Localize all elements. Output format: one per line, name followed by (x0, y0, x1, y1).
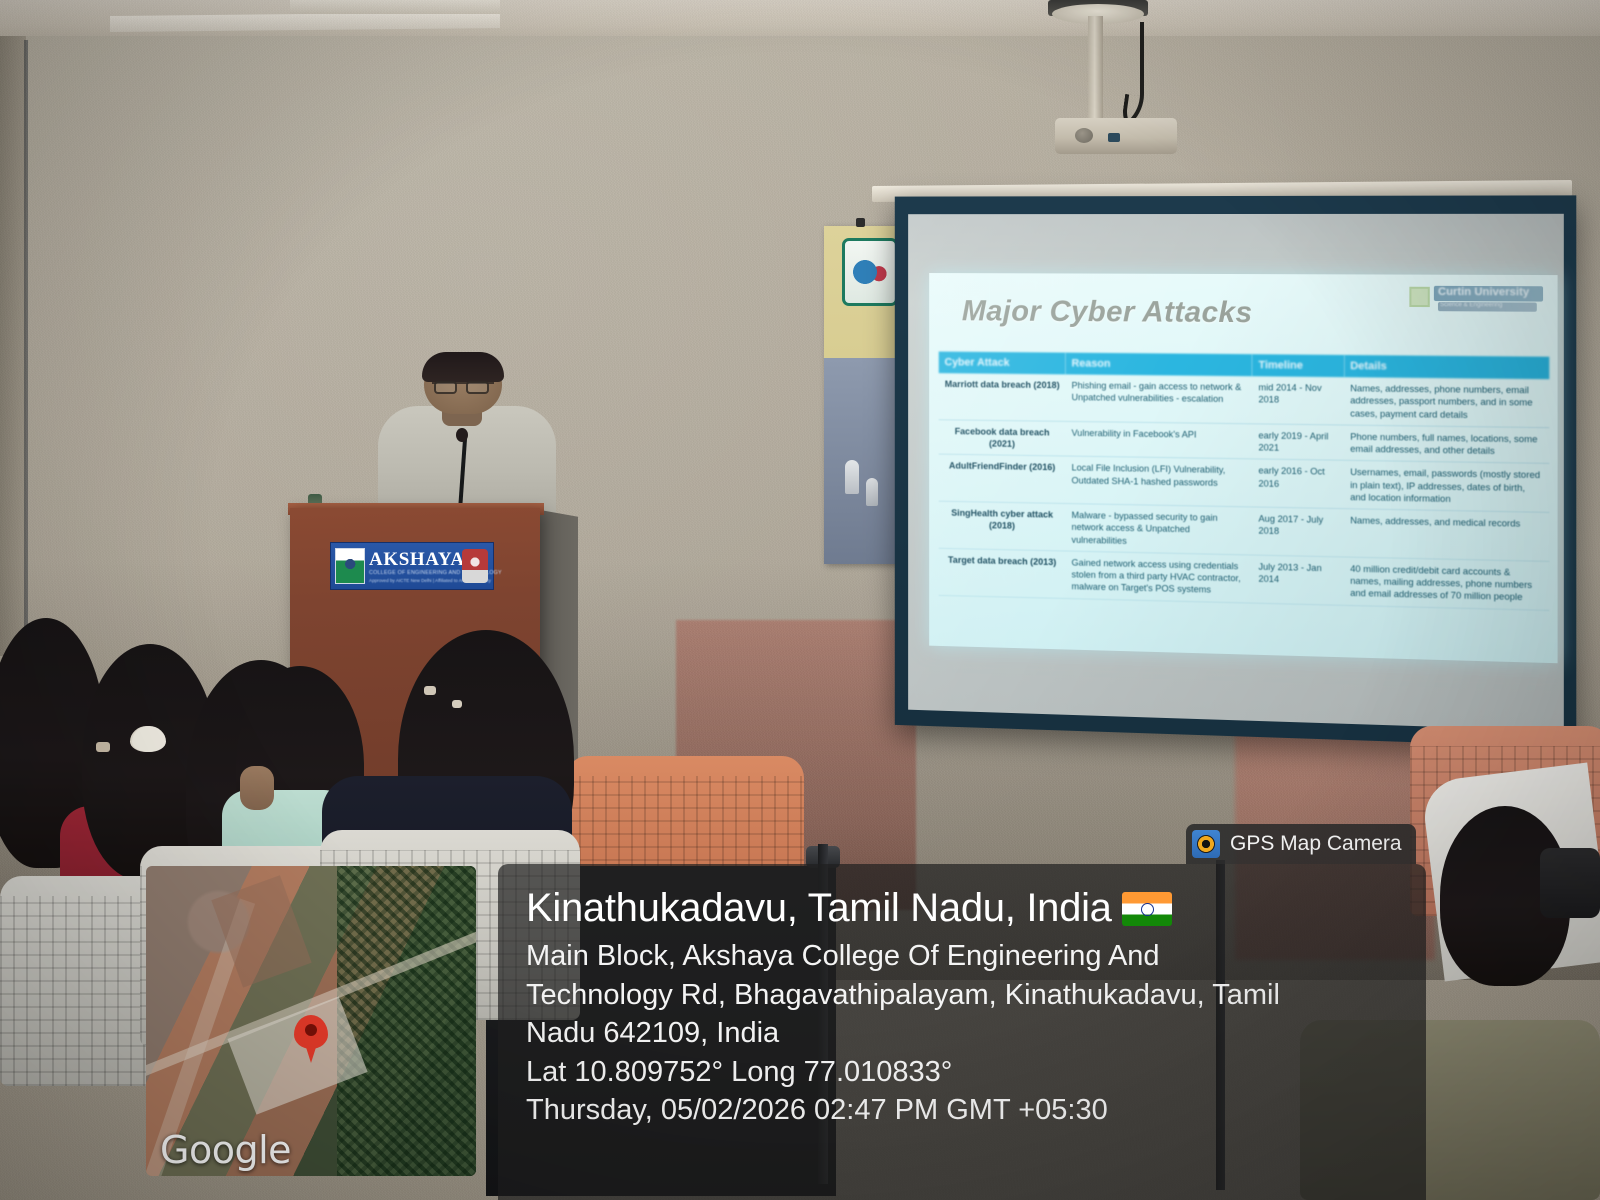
cell-attack: AdultFriendFinder (2016) (939, 454, 1066, 503)
camera-icon (1192, 830, 1220, 858)
cell-attack: SingHealth cyber attack (2018) (939, 501, 1066, 551)
cell-details: Usernames, email, passwords (mostly stor… (1344, 461, 1549, 513)
projector-lens (1075, 128, 1093, 143)
hair-clip (452, 700, 462, 708)
google-watermark: Google (160, 1128, 291, 1172)
audience-member-hand (240, 766, 274, 810)
speaker-hair (422, 352, 504, 382)
cell-reason: Local File Inclusion (LFI) Vulnerability… (1066, 456, 1253, 507)
map-vegetation (337, 866, 476, 1176)
column-header-timeline: Timeline (1252, 354, 1344, 377)
wall-seam (24, 40, 28, 630)
india-flag-icon (1122, 892, 1172, 926)
cell-details: Names, addresses, and medical records (1344, 509, 1549, 562)
cell-attack: Target data breach (2013) (939, 548, 1066, 598)
slide-logo-subtitle: Science & Engineering (1440, 302, 1502, 308)
institution-name: AKSHAYA (369, 549, 465, 571)
cell-reason: Gained network access using credentials … (1066, 551, 1253, 603)
slide-title: Major Cyber Attacks (962, 295, 1253, 330)
cell-timeline: Aug 2017 - July 2018 (1252, 507, 1344, 557)
projection-screen: Major Cyber Attacks Curtin University Sc… (895, 195, 1577, 747)
slide-logo-box (1409, 287, 1429, 307)
coordinates-label: Lat 10.809752° Long 77.010833° (526, 1053, 1408, 1092)
accreditation-seal-inner (467, 554, 483, 570)
cell-attack: Facebook data breach (2021) (939, 420, 1066, 457)
audience-bag (1540, 848, 1600, 918)
cyber-attacks-table: Cyber Attack Reason Timeline Details Mar… (939, 352, 1550, 611)
datetime-label: Thursday, 05/02/2026 02:47 PM GMT +05:30 (526, 1091, 1408, 1130)
presentation-slide: Major Cyber Attacks Curtin University Sc… (929, 273, 1557, 663)
column-header-reason: Reason (1066, 353, 1253, 377)
column-header-details: Details (1344, 355, 1549, 379)
map-thumbnail[interactable]: Google (146, 866, 476, 1176)
lecture-hall-photo: Major Cyber Attacks Curtin University Sc… (0, 0, 1600, 1200)
poster-logo (842, 238, 898, 306)
hair-clip (96, 742, 110, 752)
cell-timeline: July 2013 - Jan 2014 (1252, 555, 1344, 605)
address-line-1: Main Block, Akshaya College Of Engineeri… (526, 937, 1408, 976)
cell-details: Phone numbers, full names, locations, so… (1344, 425, 1549, 464)
slide-logo-name: Curtin University (1438, 286, 1529, 299)
akshaya-logo-mark (343, 557, 359, 571)
hair-bow (132, 726, 166, 752)
cell-details: 40 million credit/debit card accounts & … (1344, 557, 1549, 610)
cell-timeline: early 2016 - Oct 2016 (1252, 459, 1344, 509)
cell-timeline: early 2019 - April 2021 (1252, 424, 1344, 461)
cell-reason: Phishing email - gain access to network … (1066, 374, 1253, 423)
projector-led (1108, 133, 1120, 142)
gps-map-camera-badge[interactable]: GPS Map Camera (1186, 824, 1416, 864)
location-title: Kinathukadavu, Tamil Nadu, India (526, 886, 1408, 931)
app-name-label: GPS Map Camera (1230, 832, 1402, 856)
speaker-glasses-left-lens (434, 381, 457, 394)
address-line-2: Technology Rd, Bhagavathipalayam, Kinath… (526, 976, 1408, 1015)
poster-figure-secondary (866, 478, 878, 506)
akshaya-logo-icon (335, 548, 365, 584)
poster-logo-mark (851, 255, 891, 289)
cell-reason: Malware - bypassed security to gain netw… (1066, 504, 1253, 555)
cell-reason: Vulnerability in Facebook's API (1066, 421, 1253, 459)
poster-figure (845, 460, 859, 494)
hair-clip (424, 686, 436, 695)
microphone-icon (456, 428, 468, 442)
column-header-attack: Cyber Attack (939, 352, 1066, 375)
gps-info-overlay: Kinathukadavu, Tamil Nadu, India Main Bl… (498, 864, 1426, 1200)
speaker-glasses-right-lens (466, 381, 489, 394)
ceiling-trim-secondary (290, 0, 500, 14)
cell-attack: Marriott data breach (2018) (939, 373, 1066, 421)
cell-timeline: mid 2014 - Nov 2018 (1252, 376, 1344, 425)
screen-surface: Major Cyber Attacks Curtin University Sc… (908, 214, 1564, 731)
address-line-3: Nadu 642109, India (526, 1014, 1408, 1053)
cell-details: Names, addresses, phone numbers, email a… (1344, 377, 1549, 427)
location-pin-icon (294, 1015, 328, 1049)
location-name: Kinathukadavu, Tamil Nadu, India (526, 886, 1112, 931)
poster-pin (856, 218, 865, 227)
slide-university-logo: Curtin University Science & Engineering (1409, 285, 1543, 316)
table-row: Marriott data breach (2018) Phishing ema… (939, 373, 1550, 427)
accreditation-seal-icon (462, 549, 488, 583)
podium-banner: AKSHAYA COLLEGE OF ENGINEERING AND TECHN… (330, 542, 494, 590)
